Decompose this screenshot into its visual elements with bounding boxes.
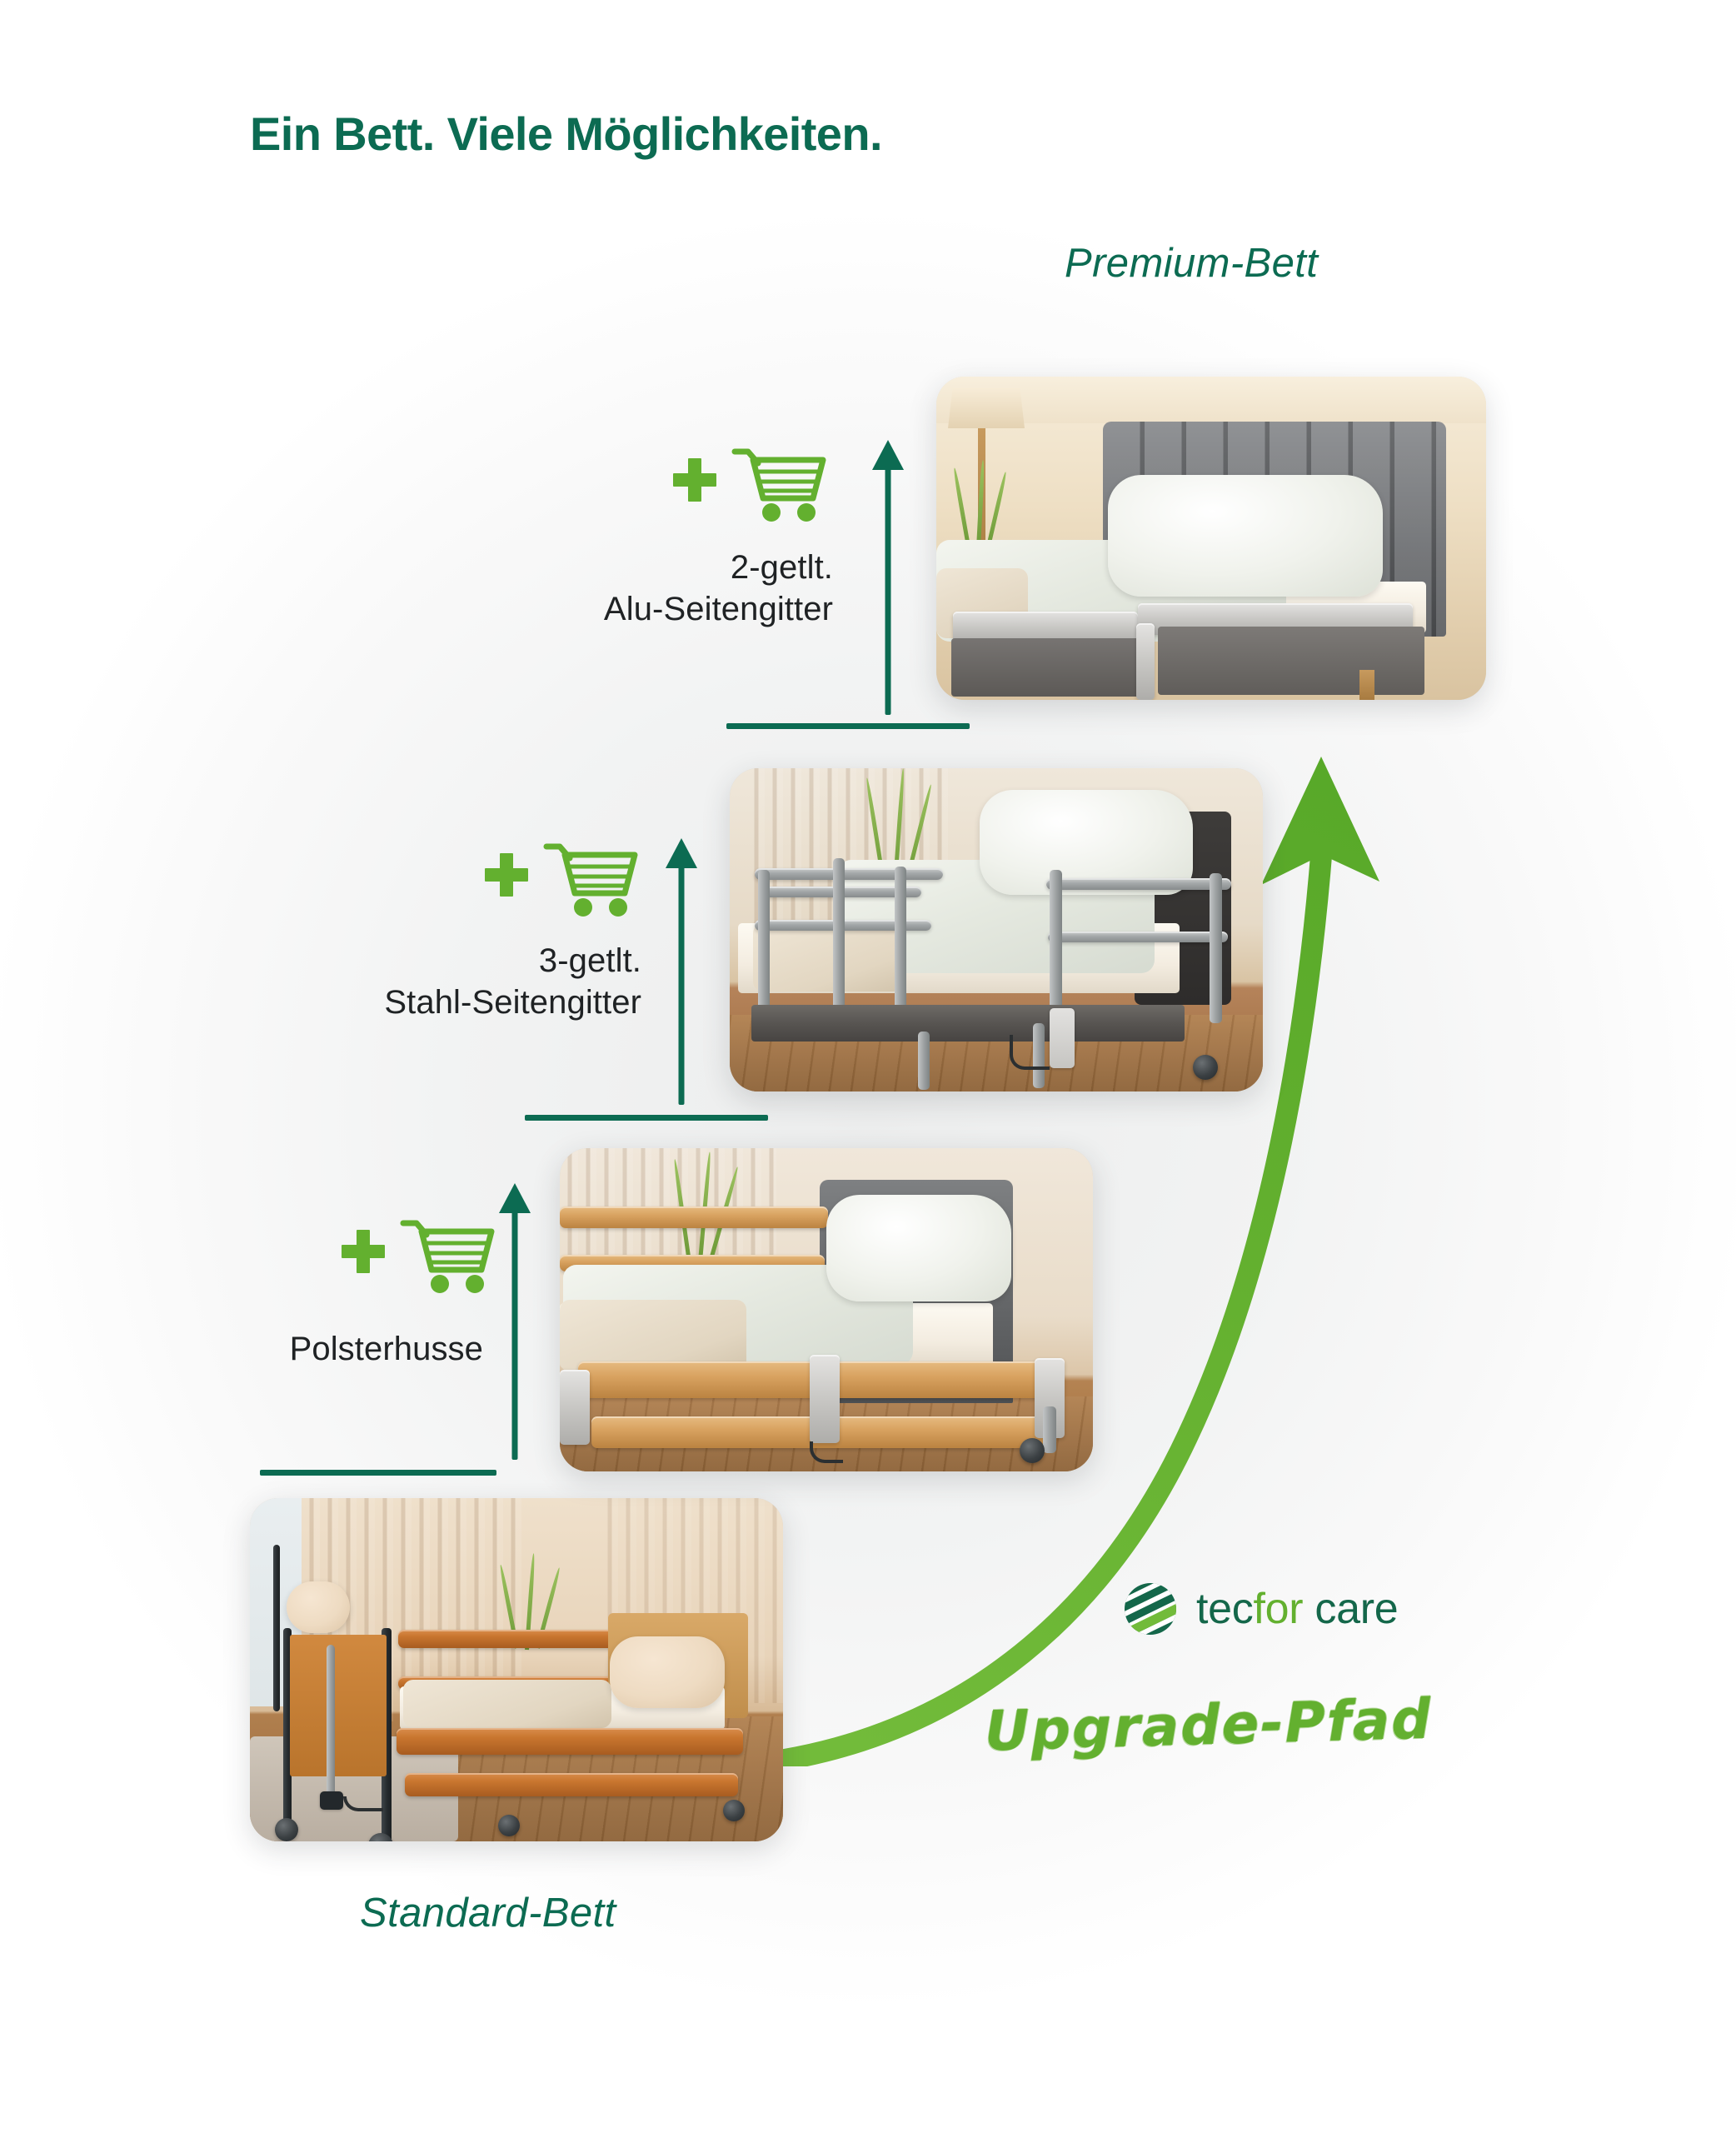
brand-word-tec: tec — [1196, 1585, 1253, 1633]
tier-label-standard: Standard-Bett — [360, 1890, 616, 1936]
addon-label-stahl: 3-getlt. Stahl-Seitengitter — [275, 940, 641, 1024]
addon-label-polster: Polsterhusse — [133, 1328, 483, 1370]
brand-wordmark: tecfor care — [1196, 1584, 1398, 1634]
shopping-cart-icon — [541, 838, 641, 918]
photo-steel-siderail-bed[interactable] — [730, 768, 1263, 1091]
upgrade-path-label: Upgrade-Pfad — [984, 1687, 1433, 1764]
step-baseline-stahl — [525, 1115, 768, 1121]
photo-standard-bed[interactable] — [250, 1498, 783, 1841]
photo-upholstered-cover-bed[interactable] — [560, 1148, 1093, 1471]
step-arrow-stahl — [660, 838, 703, 1105]
addon-icon-alu[interactable] — [673, 443, 831, 523]
brand-word-care: care — [1303, 1585, 1398, 1633]
brand-word-for: for — [1253, 1585, 1303, 1633]
page-title: Ein Bett. Viele Möglichkeiten. — [250, 107, 882, 161]
infographic-canvas: Ein Bett. Viele Möglichkeiten. Premium-B… — [0, 0, 1736, 2133]
plus-icon — [485, 853, 528, 897]
step-baseline-alu — [726, 723, 970, 729]
brand-logo[interactable]: tecfor care — [1123, 1581, 1398, 1636]
shopping-cart-icon — [730, 443, 830, 523]
step-arrow-alu — [866, 440, 910, 715]
tier-label-premium: Premium-Bett — [1065, 240, 1318, 287]
addon-label-alu: 2-getlt. Alu-Seitengitter — [466, 547, 833, 631]
photo-premium-bed[interactable] — [936, 377, 1486, 700]
addon-icon-stahl[interactable] — [485, 838, 643, 918]
plus-icon — [673, 458, 716, 502]
shopping-cart-icon — [398, 1215, 498, 1295]
step-baseline-polster — [260, 1470, 496, 1476]
addon-icon-polster[interactable] — [342, 1215, 500, 1295]
plus-icon — [342, 1230, 385, 1273]
tecfor-globe-icon — [1123, 1581, 1178, 1636]
